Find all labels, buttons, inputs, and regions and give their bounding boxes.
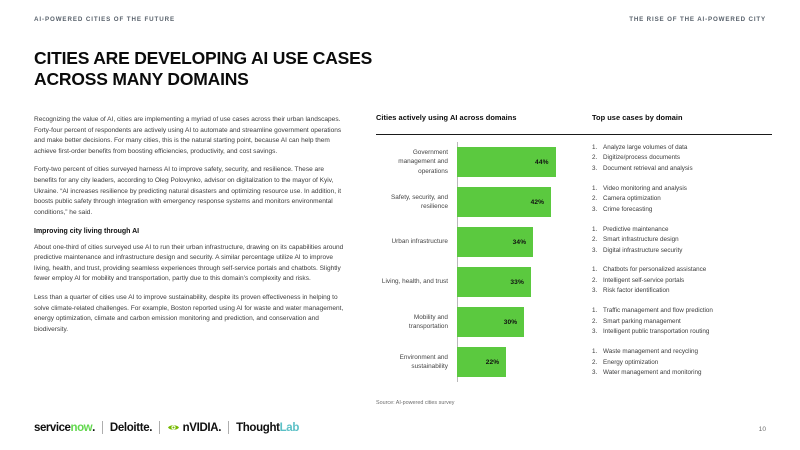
usecase-group: 1.Predictive maintenance2.Smart infrastr… [592,225,782,256]
usecase-item: 2.Smart parking management [592,317,782,327]
bar-category-label: Mobility and transportation [376,313,454,332]
usecase-item-text: Digitize/process documents [603,153,680,163]
bar-track: 44% [454,147,572,177]
usecase-item-number: 2. [592,317,603,327]
header-kicker-left: AI-POWERED CITIES OF THE FUTURE [34,16,175,23]
bar-category-label: Safety, security, and resilience [376,193,454,212]
bar-value-label: 33% [510,279,531,286]
usecase-item: 3.Crime forecasting [592,205,782,215]
usecase-item-text: Document retrieval and analysis [603,164,693,174]
usecase-item: 1.Analyze large volumes of data [592,143,782,153]
chart-axis-line [457,142,458,382]
usecase-group: 1.Traffic management and flow prediction… [592,306,782,337]
body-subheading: Improving city living through AI [34,226,344,237]
servicenow-logo-tail: . [92,422,95,434]
chart-heading-wrap: Cities actively using AI across domains [376,113,572,122]
usecase-item-text: Video monitoring and analysis [603,184,687,194]
logo-divider-1 [102,421,103,434]
servicenow-logo: servicenow. [34,422,95,434]
bar-row: Mobility and transportation30% [376,307,572,337]
bar-track: 33% [454,267,572,297]
usecase-item-text: Predictive maintenance [603,225,668,235]
usecase-item-text: Crime forecasting [603,205,652,215]
usecase-item-text: Water management and monitoring [603,368,701,378]
usecase-item-number: 1. [592,265,603,275]
usecase-item-number: 2. [592,276,603,286]
servicenow-logo-accent: now [71,422,93,434]
bar-row: Urban infrastructure34% [376,227,572,257]
bar-track: 22% [454,347,572,377]
usecase-item-number: 2. [592,358,603,368]
logo-divider-2 [159,421,160,434]
usecase-item: 2.Energy optimization [592,358,782,368]
bar: 30% [457,307,524,337]
usecase-item: 3.Document retrieval and analysis [592,164,782,174]
usecase-item: 2.Digitize/process documents [592,153,782,163]
bar-row: Government management and operations44% [376,147,572,177]
bar-row: Environment and sustainability22% [376,347,572,377]
usecase-item-text: Digital infrastructure security [603,246,682,256]
usecase-item-text: Intelligent self-service portals [603,276,684,286]
usecase-item: 1.Predictive maintenance [592,225,782,235]
usecase-group: 1.Analyze large volumes of data2.Digitiz… [592,143,782,174]
usecase-item-number: 3. [592,368,603,378]
usecase-item-text: Traffic management and flow prediction [603,306,713,316]
usecase-item-text: Risk factor identification [603,286,670,296]
bar-category-label: Urban infrastructure [376,237,454,246]
usecase-item-number: 2. [592,194,603,204]
usecase-item: 3.Risk factor identification [592,286,782,296]
usecase-item-text: Waste management and recycling [603,347,698,357]
usecase-item: 2.Intelligent self-service portals [592,276,782,286]
bar: 33% [457,267,531,297]
bar-value-label: 22% [486,359,507,366]
body-paragraph-1: Recognizing the value of AI, cities are … [34,115,344,157]
bar-category-label: Living, health, and trust [376,277,454,286]
usecase-item-number: 2. [592,235,603,245]
bar-row: Safety, security, and resilience42% [376,187,572,217]
bar-value-label: 44% [535,159,556,166]
thoughtlab-logo-text: Thought [236,422,280,434]
usecase-item-number: 1. [592,184,603,194]
usecase-item: 3.Intelligent public transportation rout… [592,327,782,337]
thoughtlab-logo: ThoughtLab [236,422,299,434]
slide-header: AI-POWERED CITIES OF THE FUTURE THE RISE… [34,16,766,23]
usecase-item: 1.Waste management and recycling [592,347,782,357]
usecase-item: 3.Digital infrastructure security [592,246,782,256]
logo-divider-3 [228,421,229,434]
usecase-item-number: 3. [592,246,603,256]
body-copy: Recognizing the value of AI, cities are … [34,115,344,343]
bar-category-label: Government management and operations [376,148,454,176]
chart-title: Cities actively using AI across domains [376,113,572,122]
deloitte-logo: Deloitte. [110,422,152,434]
usecase-item-text: Analyze large volumes of data [603,143,687,153]
usecase-item-number: 3. [592,164,603,174]
bar-value-label: 42% [531,199,552,206]
usecase-item-number: 3. [592,286,603,296]
bar-category-label: Environment and sustainability [376,353,454,372]
usecase-item-text: Smart infrastructure design [603,235,679,245]
section-divider [376,134,772,135]
bar-row: Living, health, and trust33% [376,267,572,297]
chart-source: Source: AI-powered cities survey [376,400,455,406]
usecase-item: 1.Video monitoring and analysis [592,184,782,194]
usecases-heading-wrap: Top use cases by domain [592,113,778,122]
usecase-group: 1.Chatbots for personalized assistance2.… [592,265,782,296]
bar-value-label: 34% [513,239,534,246]
bar: 42% [457,187,551,217]
usecase-item-number: 1. [592,306,603,316]
usecase-item-text: Intelligent public transportation routin… [603,327,709,337]
footer-logo-bar: servicenow. Deloitte. nVIDIA. ThoughtLab [34,421,299,434]
nvidia-logo: nVIDIA. [167,422,221,434]
body-paragraph-2: Forty-two percent of cities surveyed har… [34,165,344,218]
usecase-item: 1.Chatbots for personalized assistance [592,265,782,275]
usecase-item-number: 2. [592,153,603,163]
bar-track: 42% [454,187,572,217]
usecase-item-text: Camera optimization [603,194,661,204]
bar-track: 34% [454,227,572,257]
usecase-item: 1.Traffic management and flow prediction [592,306,782,316]
usecase-item-number: 1. [592,225,603,235]
bar-chart: Government management and operations44%S… [376,142,572,390]
usecase-item-number: 3. [592,205,603,215]
usecase-item-text: Smart parking management [603,317,681,327]
usecase-group: 1.Waste management and recycling2.Energy… [592,347,782,378]
page-title: CITIES ARE DEVELOPING AI USE CASES ACROS… [34,48,394,91]
usecase-item-number: 3. [592,327,603,337]
usecase-item-text: Chatbots for personalized assistance [603,265,706,275]
usecase-item-text: Energy optimization [603,358,658,368]
header-kicker-right: THE RISE OF THE AI-POWERED CITY [629,16,766,23]
body-paragraph-4: Less than a quarter of cities use AI to … [34,293,344,335]
thoughtlab-logo-accent: Lab [280,422,299,434]
usecase-item-number: 1. [592,347,603,357]
bar-track: 30% [454,307,572,337]
usecases-title: Top use cases by domain [592,113,778,122]
body-paragraph-3: About one-third of cities surveyed use A… [34,243,344,285]
nvidia-eye-icon [167,423,180,432]
bar-value-label: 30% [504,319,525,326]
usecases-list: 1.Analyze large volumes of data2.Digitiz… [592,143,782,388]
bar: 34% [457,227,533,257]
usecase-item-number: 1. [592,143,603,153]
slide: AI-POWERED CITIES OF THE FUTURE THE RISE… [0,0,800,450]
usecase-item: 2.Smart infrastructure design [592,235,782,245]
nvidia-logo-text: nVIDIA. [183,422,221,434]
usecase-group: 1.Video monitoring and analysis2.Camera … [592,184,782,215]
usecase-item: 3.Water management and monitoring [592,368,782,378]
servicenow-logo-text: service [34,422,71,434]
usecase-item: 2.Camera optimization [592,194,782,204]
bar: 44% [457,147,556,177]
bar: 22% [457,347,506,377]
page-number: 10 [759,426,766,433]
